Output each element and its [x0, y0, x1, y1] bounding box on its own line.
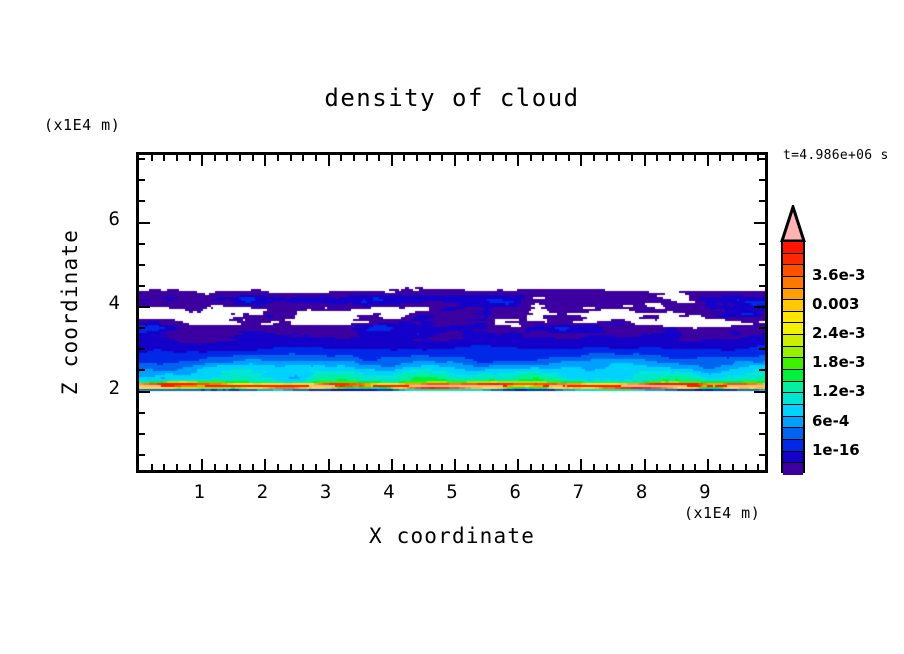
x-tick-top	[593, 155, 595, 161]
x-tick-top	[302, 155, 304, 161]
x-minor-tick	[606, 464, 608, 470]
y-tick-right	[759, 454, 765, 456]
x-major-tick	[517, 459, 519, 470]
y-minor-tick	[139, 243, 145, 245]
x-minor-tick	[302, 464, 304, 470]
y-tick-right	[759, 200, 765, 202]
y-tick-label: 6	[86, 208, 120, 230]
colorbar-band	[783, 463, 803, 475]
x-tick-top	[682, 155, 684, 161]
x-tick-label: 1	[184, 481, 214, 503]
colorbar-tick-label: 3.6e-3	[812, 266, 865, 284]
y-minor-tick	[139, 454, 145, 456]
y-tick-right	[759, 433, 765, 435]
x-tick-top	[719, 155, 721, 161]
colorbar-band	[783, 347, 803, 359]
x-minor-tick	[593, 464, 595, 470]
y-tick-right	[759, 348, 765, 350]
colorbar-arrow-icon	[779, 205, 807, 242]
x-minor-tick	[631, 464, 633, 470]
x-minor-tick	[151, 464, 153, 470]
x-tick-label: 7	[563, 481, 593, 503]
x-minor-tick	[618, 464, 620, 470]
x-tick-top	[467, 155, 469, 161]
y-minor-tick	[139, 179, 145, 181]
colorbar-band	[783, 300, 803, 312]
x-tick-top	[530, 155, 532, 161]
y-minor-tick	[139, 433, 145, 435]
x-tick-top	[745, 155, 747, 161]
x-tick-top	[252, 155, 254, 161]
x-tick-top	[429, 155, 431, 161]
x-tick-label: 8	[627, 481, 657, 503]
x-minor-tick	[656, 464, 658, 470]
colorbar-band	[783, 393, 803, 405]
x-tick-top	[214, 155, 216, 161]
x-minor-tick	[163, 464, 165, 470]
y-tick-right	[759, 158, 765, 160]
colorbar-band	[783, 289, 803, 301]
x-tick-top	[542, 155, 544, 161]
x-minor-tick	[290, 464, 292, 470]
y-tick-right	[759, 243, 765, 245]
x-tick-top	[656, 155, 658, 161]
x-minor-tick	[277, 464, 279, 470]
x-minor-tick	[189, 464, 191, 470]
x-minor-tick	[682, 464, 684, 470]
y-major-tick	[139, 391, 150, 393]
x-minor-tick	[315, 464, 317, 470]
x-tick-top	[644, 155, 646, 166]
x-minor-tick	[732, 464, 734, 470]
x-major-tick	[644, 459, 646, 470]
x-tick-top	[378, 155, 380, 161]
x-tick-top	[290, 155, 292, 161]
y-tick-right	[759, 327, 765, 329]
x-tick-label: 2	[247, 481, 277, 503]
colorbar-band	[783, 405, 803, 417]
y-minor-tick	[139, 285, 145, 287]
y-minor-tick	[139, 412, 145, 414]
contour-field	[139, 155, 765, 470]
x-tick-top	[163, 155, 165, 161]
x-minor-tick	[239, 464, 241, 470]
colorbar-band	[783, 335, 803, 347]
x-major-tick	[391, 459, 393, 470]
y-tick-right	[754, 306, 765, 308]
x-minor-tick	[378, 464, 380, 470]
y-minor-tick	[139, 327, 145, 329]
x-minor-tick	[745, 464, 747, 470]
x-tick-top	[441, 155, 443, 161]
plot-area	[136, 152, 768, 473]
y-major-tick	[139, 306, 150, 308]
y-minor-tick	[139, 158, 145, 160]
x-minor-tick	[366, 464, 368, 470]
x-tick-top	[454, 155, 456, 166]
x-tick-label: 6	[500, 481, 530, 503]
time-annotation: t=4.986e+06 s	[783, 148, 889, 163]
x-minor-tick	[252, 464, 254, 470]
x-tick-top	[580, 155, 582, 166]
x-minor-tick	[467, 464, 469, 470]
y-axis-title: Z coordinate	[58, 212, 82, 412]
x-minor-tick	[555, 464, 557, 470]
colorbar-band	[783, 312, 803, 324]
x-minor-tick	[530, 464, 532, 470]
x-axis-title: X coordinate	[136, 524, 768, 548]
x-minor-tick	[340, 464, 342, 470]
colorbar-band	[783, 242, 803, 254]
colorbar-band	[783, 452, 803, 464]
x-minor-tick	[542, 464, 544, 470]
colorbar-tick-label: 2.4e-3	[812, 324, 865, 342]
figure-canvas: density of cloud (x1E4 m) (x1E4 m) t=4.9…	[0, 0, 904, 654]
x-tick-top	[340, 155, 342, 161]
x-tick-top	[492, 155, 494, 161]
colorbar-tick-label: 1.8e-3	[812, 353, 865, 371]
x-tick-top	[391, 155, 393, 166]
y-minor-tick	[139, 264, 145, 266]
y-tick-right	[754, 391, 765, 393]
x-tick-top	[707, 155, 709, 166]
x-tick-top	[732, 155, 734, 161]
y-unit-label: (x1E4 m)	[44, 116, 120, 134]
x-major-tick	[454, 459, 456, 470]
x-minor-tick	[568, 464, 570, 470]
density-field-canvas	[139, 155, 765, 470]
colorbar-band	[783, 428, 803, 440]
colorbar-band	[783, 358, 803, 370]
y-minor-tick	[139, 369, 145, 371]
x-tick-top	[479, 155, 481, 161]
x-tick-top	[416, 155, 418, 161]
y-tick-right	[754, 222, 765, 224]
colorbar-tick-label: 1e-16	[812, 441, 860, 459]
x-tick-top	[505, 155, 507, 161]
x-tick-top	[277, 155, 279, 161]
x-minor-tick	[492, 464, 494, 470]
x-tick-top	[555, 155, 557, 161]
y-tick-right	[759, 264, 765, 266]
y-tick-right	[759, 412, 765, 414]
colorbar-tick-label: 1.2e-3	[812, 382, 865, 400]
x-minor-tick	[694, 464, 696, 470]
colorbar-band	[783, 323, 803, 335]
x-tick-top	[189, 155, 191, 161]
x-minor-tick	[505, 464, 507, 470]
x-tick-label: 3	[311, 481, 341, 503]
x-tick-top	[669, 155, 671, 161]
x-tick-top	[694, 155, 696, 161]
y-tick-right	[759, 285, 765, 287]
colorbar-band	[783, 254, 803, 266]
x-tick-top	[353, 155, 355, 161]
y-tick-right	[759, 369, 765, 371]
x-tick-top	[239, 155, 241, 161]
colorbar-band	[783, 417, 803, 429]
x-minor-tick	[214, 464, 216, 470]
x-major-tick	[580, 459, 582, 470]
x-minor-tick	[403, 464, 405, 470]
x-minor-tick	[416, 464, 418, 470]
x-tick-label: 4	[374, 481, 404, 503]
x-tick-top	[606, 155, 608, 161]
x-major-tick	[264, 459, 266, 470]
x-unit-label: (x1E4 m)	[684, 504, 760, 522]
x-tick-top	[631, 155, 633, 161]
x-minor-tick	[441, 464, 443, 470]
x-minor-tick	[353, 464, 355, 470]
x-tick-top	[315, 155, 317, 161]
x-tick-top	[403, 155, 405, 161]
x-tick-top	[201, 155, 203, 166]
x-minor-tick	[479, 464, 481, 470]
colorbar-band	[783, 265, 803, 277]
x-tick-label: 9	[690, 481, 720, 503]
colorbar-tick-label: 6e-4	[812, 412, 849, 430]
x-tick-top	[151, 155, 153, 161]
colorbar-band	[783, 440, 803, 452]
y-minor-tick	[139, 348, 145, 350]
x-minor-tick	[429, 464, 431, 470]
x-minor-tick	[176, 464, 178, 470]
colorbar-band	[783, 370, 803, 382]
colorbar	[781, 240, 805, 473]
x-major-tick	[201, 459, 203, 470]
page-title: density of cloud	[0, 84, 904, 112]
x-tick-top	[568, 155, 570, 161]
y-tick-label: 2	[86, 377, 120, 399]
colorbar-tick-label: 0.003	[812, 295, 859, 313]
y-tick-right	[759, 179, 765, 181]
x-tick-top	[328, 155, 330, 166]
x-minor-tick	[719, 464, 721, 470]
x-tick-top	[618, 155, 620, 161]
x-minor-tick	[226, 464, 228, 470]
x-major-tick	[707, 459, 709, 470]
x-tick-top	[226, 155, 228, 161]
x-tick-top	[517, 155, 519, 166]
y-minor-tick	[139, 200, 145, 202]
y-tick-label: 4	[86, 292, 120, 314]
x-tick-top	[176, 155, 178, 161]
colorbar-band	[783, 382, 803, 394]
x-major-tick	[328, 459, 330, 470]
x-tick-top	[366, 155, 368, 161]
colorbar-band	[783, 277, 803, 289]
x-tick-label: 5	[437, 481, 467, 503]
x-minor-tick	[757, 464, 759, 470]
x-minor-tick	[669, 464, 671, 470]
y-major-tick	[139, 222, 150, 224]
x-tick-top	[264, 155, 266, 166]
